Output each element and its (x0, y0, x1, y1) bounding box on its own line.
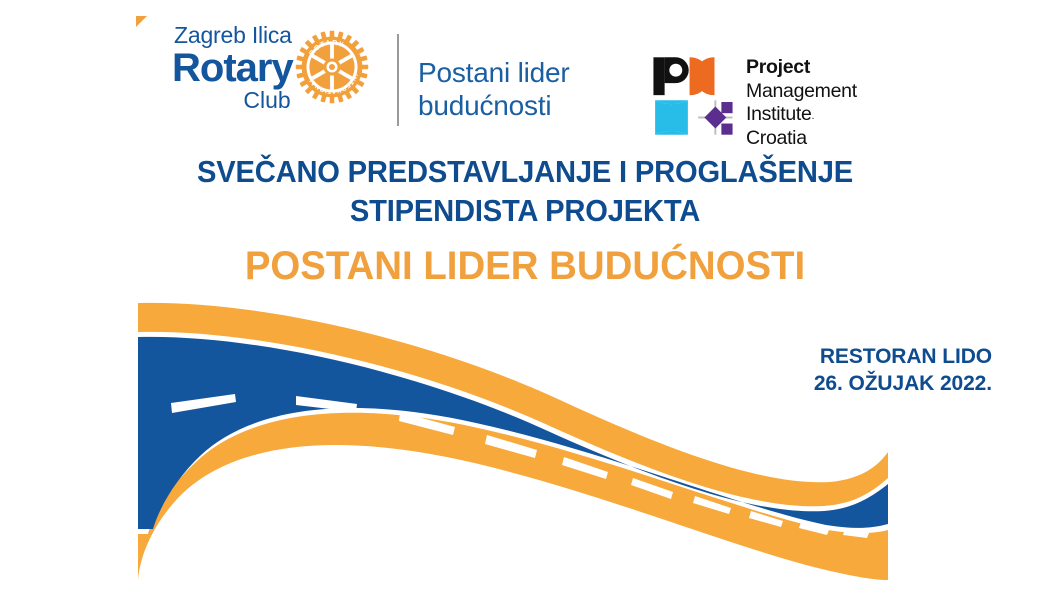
road-edge-lines (138, 332, 888, 534)
page-title-line1: SVEČANO PREDSTAVLJANJE I PROGLAŠENJE (32, 153, 1019, 192)
pmi-line1: Project (746, 56, 857, 80)
rotary-wheel-icon: ROTARY INTERNATIONAL (295, 28, 369, 111)
page-title-line2: STIPENDISTA PROJEKTA (32, 192, 1019, 231)
registered-mark-icon: . (812, 111, 814, 122)
pmi-line4: Croatia (746, 127, 857, 151)
project-tagline: Postani lider budućnosti (418, 56, 569, 122)
rotary-club-wordmark: Zagreb Ilica Rotary Club (172, 24, 293, 112)
pmi-line3: Institute. (746, 103, 857, 127)
logo-row: Zagreb Ilica Rotary Club (0, 22, 1050, 137)
project-tagline-line2: budućnosti (418, 89, 569, 122)
event-announcement-slide: Zagreb Ilica Rotary Club (0, 0, 1050, 600)
rotary-club-logo: Zagreb Ilica Rotary Club (172, 24, 369, 112)
pmi-mark-icon (650, 52, 736, 145)
pmi-wordmark: Project Management Institute. Croatia (746, 56, 857, 150)
logo-divider (397, 34, 399, 126)
rotary-club-line3: Club (172, 89, 293, 112)
pmi-line2: Management (746, 80, 857, 104)
event-date: 26. OŽUJAK 2022. (814, 370, 992, 397)
pmi-croatia-logo: Project Management Institute. Croatia (650, 52, 857, 150)
road-shoulder (138, 303, 888, 580)
road-asphalt (138, 337, 888, 529)
road-center-dashes (171, 394, 869, 538)
rotary-club-line1: Zagreb Ilica (172, 24, 293, 47)
venue-date-block: RESTORAN LIDO 26. OŽUJAK 2022. (814, 343, 992, 398)
page-subtitle: POSTANI LIDER BUDUĆNOSTI (21, 244, 1029, 289)
venue-name: RESTORAN LIDO (814, 343, 992, 370)
page-title: SVEČANO PREDSTAVLJANJE I PROGLAŠENJE STI… (32, 153, 1019, 231)
pmi-line3-text: Institute (746, 103, 812, 125)
rotary-club-line2: Rotary (172, 48, 293, 88)
project-tagline-line1: Postani lider (418, 56, 569, 89)
